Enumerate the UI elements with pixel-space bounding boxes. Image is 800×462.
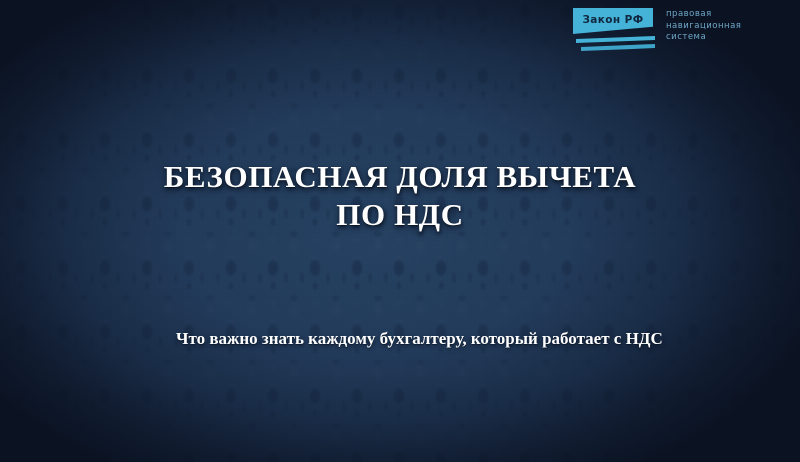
brand-logo[interactable]: Закон РФ правовая навигационная система [573, 6, 788, 54]
logo-mark: Закон РФ [573, 6, 655, 54]
logo-box-label: Закон РФ [573, 8, 653, 32]
slide-subtitle: Что важно знать каждому бухгалтеру, кото… [176, 325, 676, 353]
logo-tagline-line-1: правовая [666, 9, 741, 21]
slide-title: БЕЗОПАСНАЯ ДОЛЯ ВЫЧЕТА ПО НДС [100, 158, 700, 234]
presentation-slide: Закон РФ правовая навигационная система … [0, 0, 800, 462]
logo-tagline: правовая навигационная система [666, 9, 741, 44]
logo-stripe-upper-icon [576, 36, 655, 43]
logo-tagline-line-3: система [666, 32, 741, 44]
slide-title-line-1: БЕЗОПАСНАЯ ДОЛЯ ВЫЧЕТА [100, 158, 700, 196]
logo-stripe-lower-icon [581, 44, 655, 51]
logo-tagline-line-2: навигационная [666, 21, 741, 33]
slide-title-line-2: ПО НДС [100, 196, 700, 234]
